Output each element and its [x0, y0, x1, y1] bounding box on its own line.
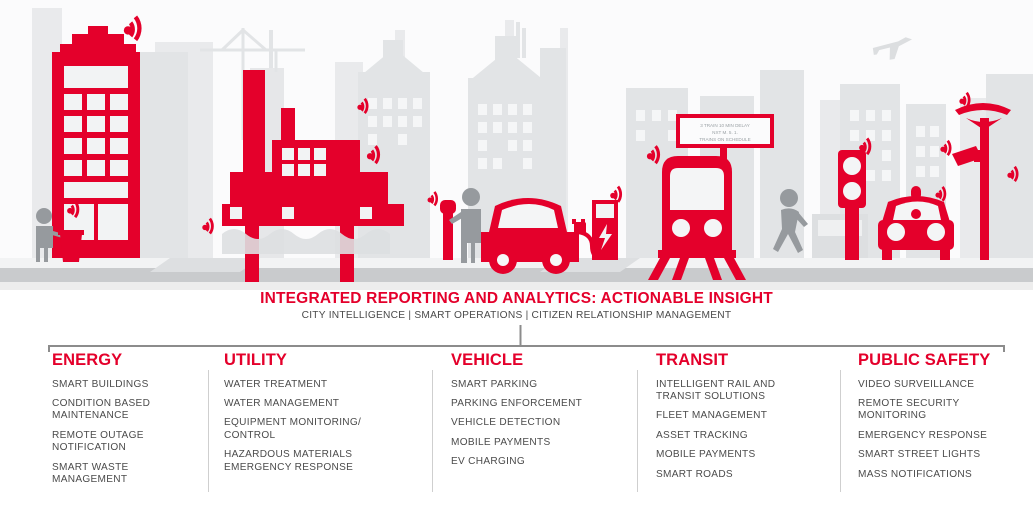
- list-item[interactable]: PARKING ENFORCEMENT: [451, 398, 631, 410]
- list-item[interactable]: ASSET TRACKING: [656, 430, 836, 442]
- category-column-energy[interactable]: ENERGY SMART BUILDINGS CONDITION BASED M…: [52, 352, 202, 493]
- list-item[interactable]: EV CHARGING: [451, 456, 631, 468]
- list-item[interactable]: EMERGENCY RESPONSE: [858, 430, 1028, 442]
- list-item[interactable]: SMART PARKING: [451, 379, 631, 391]
- list-item[interactable]: MOBILE PAYMENTS: [656, 449, 836, 461]
- category-list-vehicle: SMART PARKING PARKING ENFORCEMENT VEHICL…: [451, 379, 631, 469]
- list-item[interactable]: WATER MANAGEMENT: [224, 398, 416, 410]
- column-divider: [637, 370, 638, 492]
- category-list-energy: SMART BUILDINGS CONDITION BASED MAINTENA…: [52, 379, 202, 487]
- list-item[interactable]: MOBILE PAYMENTS: [451, 437, 631, 449]
- transit-sign-line3: TRAINS ON SCHEDULE: [699, 137, 750, 142]
- category-title-public-safety: PUBLIC SAFETY: [858, 352, 1028, 369]
- smart-city-infographic: 3 TRAIN 10 MIN DELAY NXT M. 5. 1. TRAINS…: [0, 0, 1033, 505]
- transit-sign-line1: 3 TRAIN 10 MIN DELAY: [700, 123, 750, 128]
- list-item[interactable]: VIDEO SURVEILLANCE: [858, 379, 1028, 391]
- category-column-vehicle[interactable]: VEHICLE SMART PARKING PARKING ENFORCEMEN…: [451, 352, 631, 476]
- category-column-public-safety[interactable]: PUBLIC SAFETY VIDEO SURVEILLANCE REMOTE …: [858, 352, 1028, 488]
- list-item[interactable]: SMART BUILDINGS: [52, 379, 202, 391]
- lower-band: [0, 282, 1033, 290]
- list-item[interactable]: EQUIPMENT MONITORING/ CONTROL: [224, 417, 416, 442]
- list-item[interactable]: REMOTE SECURITY MONITORING: [858, 398, 1028, 423]
- list-item[interactable]: CONDITION BASED MAINTENANCE: [52, 398, 202, 423]
- column-divider: [432, 370, 433, 492]
- banner-subtitle: CITY INTELLIGENCE | SMART OPERATIONS | C…: [0, 310, 1033, 321]
- list-item[interactable]: REMOTE OUTAGE NOTIFICATION: [52, 430, 202, 455]
- smart-building-icon: [52, 26, 140, 258]
- list-item[interactable]: FLEET MANAGEMENT: [656, 410, 836, 422]
- category-title-utility: UTILITY: [224, 352, 416, 369]
- list-item[interactable]: SMART WASTE MANAGEMENT: [52, 462, 202, 487]
- list-item[interactable]: MASS NOTIFICATIONS: [858, 469, 1028, 481]
- category-column-utility[interactable]: UTILITY WATER TREATMENT WATER MANAGEMENT…: [224, 352, 416, 481]
- list-item[interactable]: INTELLIGENT RAIL AND TRANSIT SOLUTIONS: [656, 379, 836, 404]
- category-title-transit: TRANSIT: [656, 352, 836, 369]
- category-title-vehicle: VEHICLE: [451, 352, 631, 369]
- list-item[interactable]: SMART STREET LIGHTS: [858, 449, 1028, 461]
- column-divider: [840, 370, 841, 492]
- list-item[interactable]: HAZARDOUS MATERIALS EMERGENCY RESPONSE: [224, 449, 416, 474]
- column-divider: [208, 370, 209, 492]
- ev-charger-icon: [592, 200, 618, 260]
- transit-sign-line2: NXT M. 5. 1.: [712, 130, 738, 135]
- category-list-transit: INTELLIGENT RAIL AND TRANSIT SOLUTIONS F…: [656, 379, 836, 481]
- banner-title: INTEGRATED REPORTING AND ANALYTICS: ACTI…: [0, 290, 1033, 308]
- category-list-public-safety: VIDEO SURVEILLANCE REMOTE SECURITY MONIT…: [858, 379, 1028, 481]
- smart-city-illustration: 3 TRAIN 10 MIN DELAY NXT M. 5. 1. TRAINS…: [0, 0, 1033, 290]
- list-item[interactable]: SMART ROADS: [656, 469, 836, 481]
- category-title-energy: ENERGY: [52, 352, 202, 369]
- category-list-utility: WATER TREATMENT WATER MANAGEMENT EQUIPME…: [224, 379, 416, 474]
- category-column-transit[interactable]: TRANSIT INTELLIGENT RAIL AND TRANSIT SOL…: [656, 352, 836, 488]
- category-columns: ENERGY SMART BUILDINGS CONDITION BASED M…: [0, 352, 1033, 505]
- list-item[interactable]: VEHICLE DETECTION: [451, 417, 631, 429]
- list-item[interactable]: WATER TREATMENT: [224, 379, 416, 391]
